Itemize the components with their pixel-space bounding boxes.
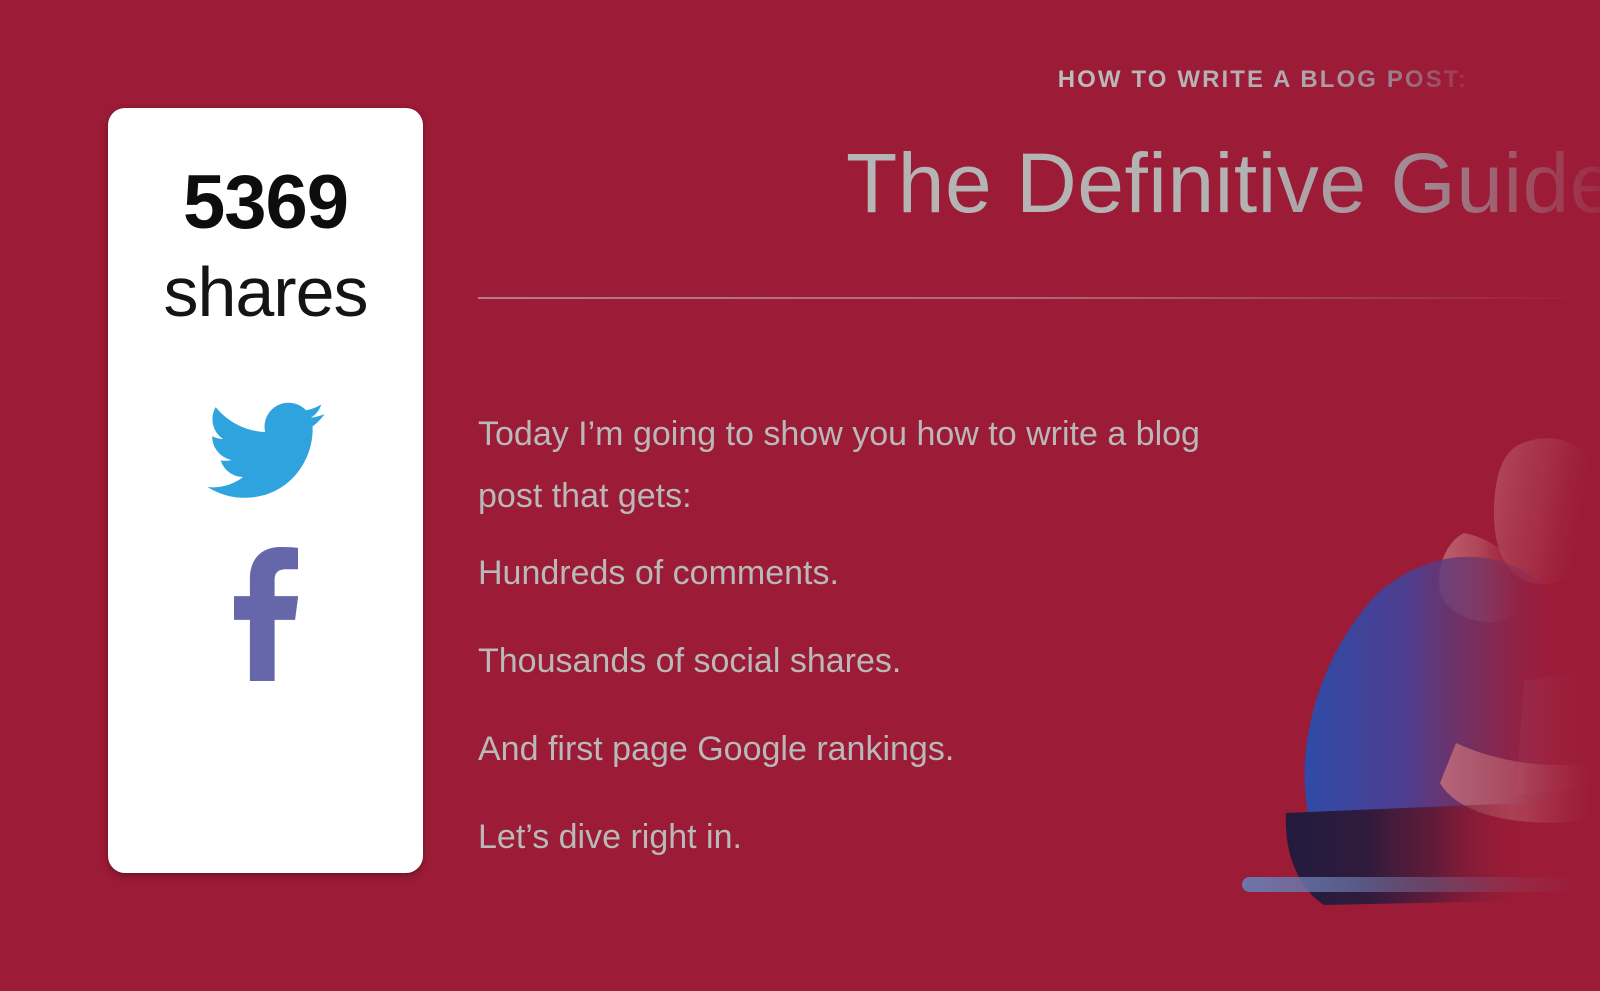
page-title: The Definitive Guide (846, 136, 1600, 230)
body-paragraph: Let’s dive right in. (478, 820, 1238, 854)
slide-canvas: 5369 shares HOW TO WRITE A BLOG POST: Th… (0, 0, 1600, 991)
share-count: 5369 (183, 165, 348, 241)
share-on-facebook-button[interactable] (201, 545, 331, 685)
share-on-twitter-button[interactable] (201, 397, 331, 505)
article-body: Today I’m going to show you how to write… (478, 404, 1238, 854)
article-content: HOW TO WRITE A BLOG POST: The Definitive… (478, 0, 1600, 991)
body-paragraph: Hundreds of comments. (478, 556, 1238, 590)
facebook-f-icon (234, 547, 298, 684)
body-paragraph: Thousands of social shares. (478, 644, 1238, 678)
article-eyebrow: HOW TO WRITE A BLOG POST: (1058, 66, 1468, 94)
social-share-card: 5369 shares (108, 108, 423, 873)
body-paragraph: And first page Google rankings. (478, 732, 1238, 766)
horizontal-divider (478, 297, 1600, 299)
body-paragraph: Today I’m going to show you how to write… (478, 404, 1218, 528)
twitter-bird-icon (207, 402, 325, 501)
share-count-label: shares (163, 257, 367, 327)
